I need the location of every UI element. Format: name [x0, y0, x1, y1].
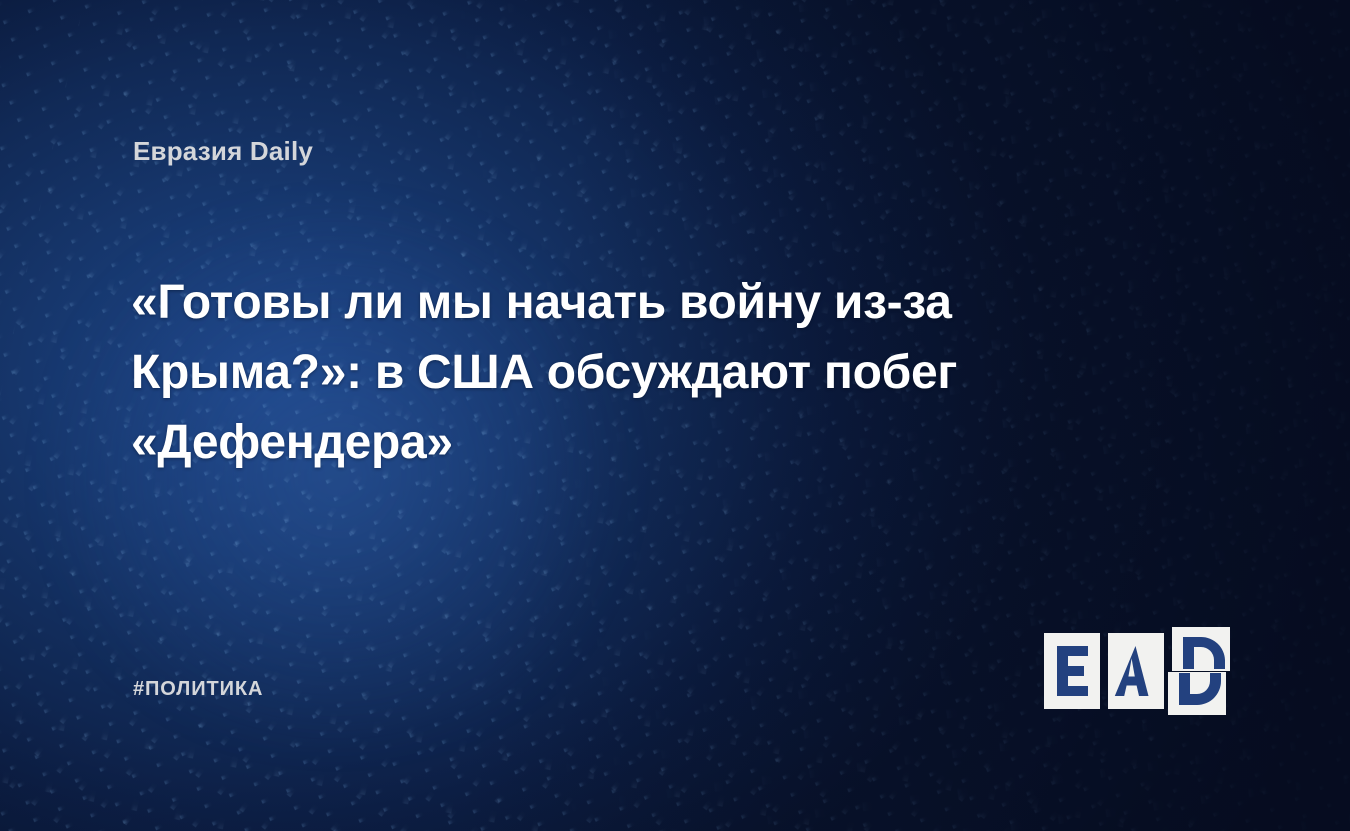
category-tag[interactable]: #ПОЛИТИКА: [133, 678, 263, 701]
headline: «Готовы ли мы начать войну из-за Крыма?»…: [131, 268, 1091, 478]
logo-letter-e: [1057, 646, 1088, 696]
news-cover-card: Евразия Daily «Готовы ли мы начать войну…: [0, 0, 1350, 831]
eadaily-logo[interactable]: [1044, 627, 1230, 715]
eadaily-logo-svg: [1044, 627, 1230, 715]
site-name: Евразия Daily: [133, 136, 313, 167]
card-content: Евразия Daily «Готовы ли мы начать войну…: [0, 0, 1350, 831]
